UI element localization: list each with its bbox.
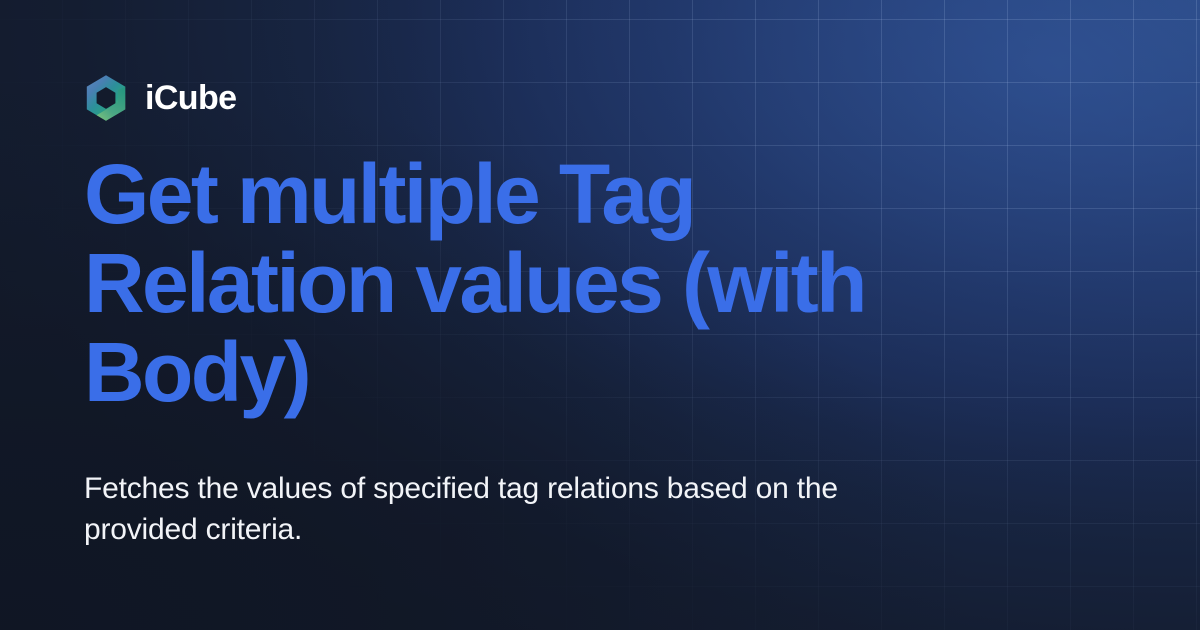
page-title: Get multiple Tag Relation values (with B… [84,150,1024,417]
og-social-card: iCube Get multiple Tag Relation values (… [0,0,1200,630]
brand-name: iCube [145,81,236,115]
page-subtitle: Fetches the values of specified tag rela… [84,468,884,551]
hexagon-ring-logo-icon [84,74,128,122]
brand-lockup: iCube [84,74,236,122]
card-content: iCube Get multiple Tag Relation values (… [84,0,1024,630]
